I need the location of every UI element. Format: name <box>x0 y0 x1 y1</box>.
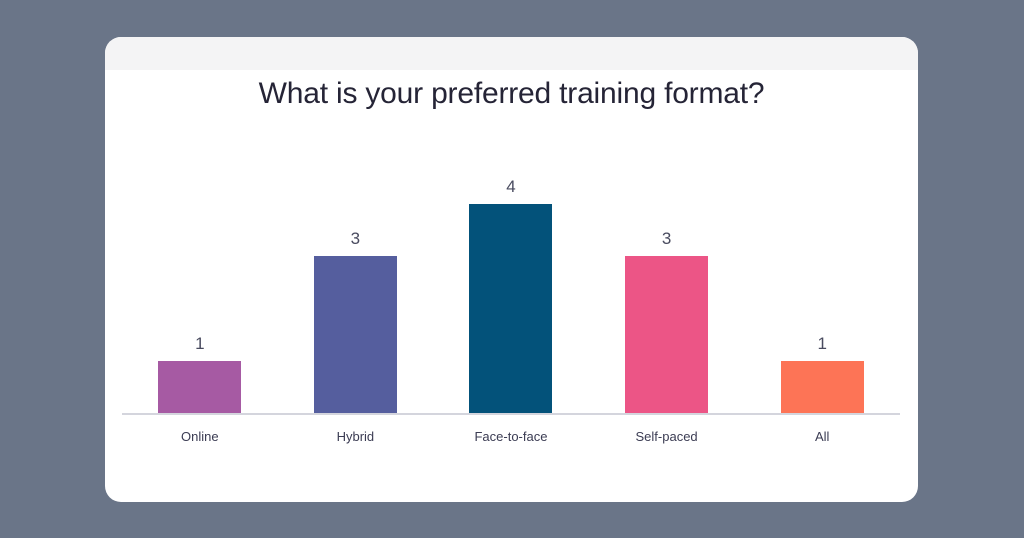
bar-value-label: 3 <box>351 230 360 247</box>
chart-plot-area: 1 3 4 3 1 <box>122 137 900 452</box>
bar-group-self-paced: 3 <box>594 173 739 413</box>
bar-value-label: 3 <box>662 230 671 247</box>
bar-series: 1 3 4 3 1 <box>122 173 900 413</box>
x-tick-self-paced: Self-paced <box>594 429 739 444</box>
bar-online[interactable] <box>158 361 241 413</box>
x-tick-face-to-face: Face-to-face <box>438 429 583 444</box>
bar-value-label: 1 <box>817 335 826 352</box>
bar-self-paced[interactable] <box>625 256 708 413</box>
x-tick-all: All <box>750 429 895 444</box>
bar-group-online: 1 <box>127 173 272 413</box>
bar-all[interactable] <box>781 361 864 413</box>
x-tick-online: Online <box>127 429 272 444</box>
chart-title: What is your preferred training format? <box>105 77 918 111</box>
bar-value-label: 1 <box>195 335 204 352</box>
card-header-strip <box>105 37 918 70</box>
bar-group-hybrid: 3 <box>283 173 428 413</box>
chart-card: What is your preferred training format? … <box>105 37 918 502</box>
bar-value-label: 4 <box>506 178 515 195</box>
bar-group-face-to-face: 4 <box>438 173 583 413</box>
bar-group-all: 1 <box>750 173 895 413</box>
screenshot-stage: What is your preferred training format? … <box>0 0 1024 538</box>
x-tick-hybrid: Hybrid <box>283 429 428 444</box>
bar-face-to-face[interactable] <box>469 204 552 413</box>
axis-baseline <box>122 413 900 415</box>
bar-hybrid[interactable] <box>314 256 397 413</box>
x-axis-tick-labels: Online Hybrid Face-to-face Self-paced Al… <box>122 429 900 444</box>
